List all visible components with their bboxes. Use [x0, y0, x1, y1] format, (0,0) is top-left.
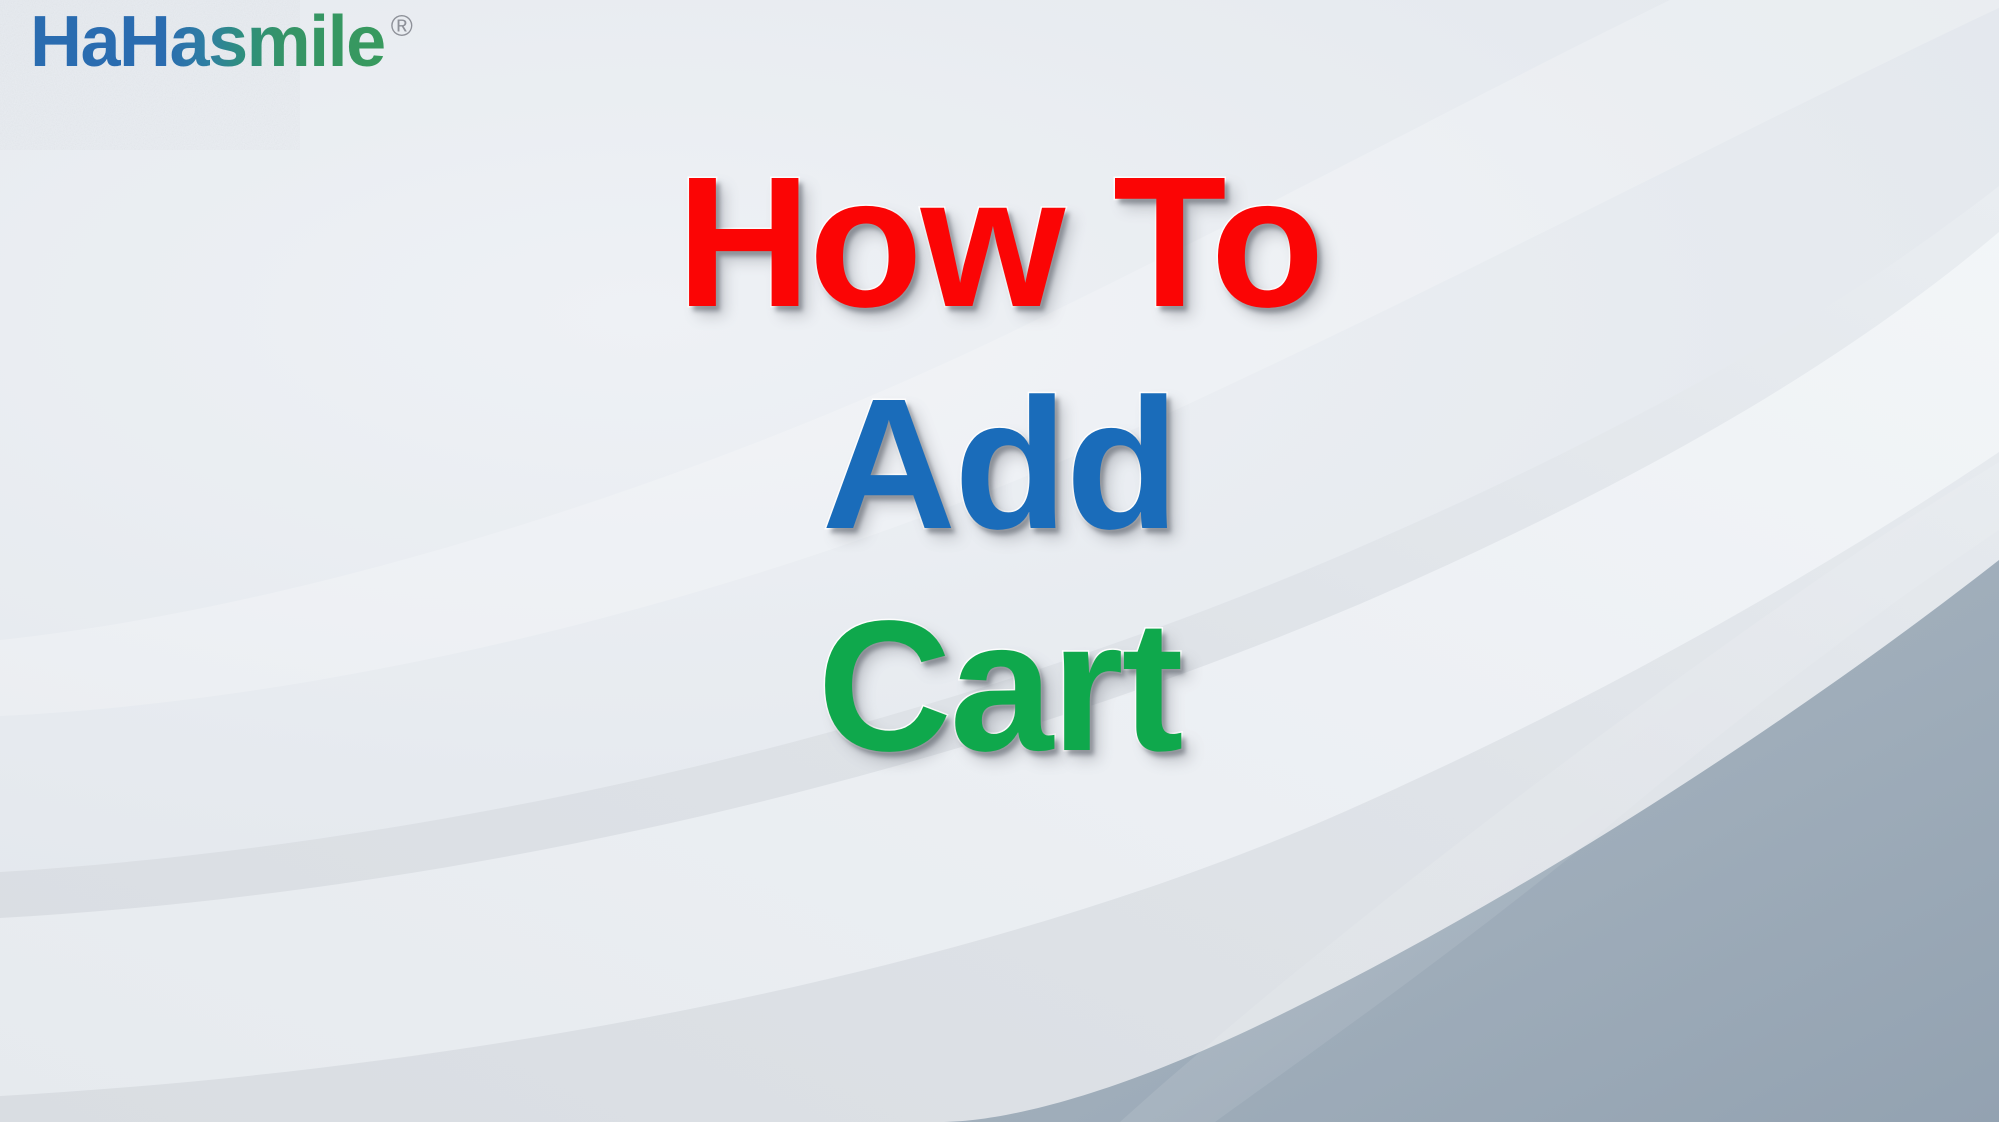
title-slide: HaHasmile ® How To Add Cart: [0, 0, 1999, 1122]
headline-line-how-to: How To: [0, 150, 1999, 336]
headline-line-cart: Cart: [0, 594, 1999, 780]
headline-line-add: Add: [0, 372, 1999, 558]
registered-trademark-icon: ®: [391, 12, 413, 42]
brand-logo: HaHasmile ®: [30, 6, 413, 78]
brand-wordmark: HaHasmile: [30, 6, 385, 78]
headline-block: How To Add Cart: [0, 150, 1999, 780]
